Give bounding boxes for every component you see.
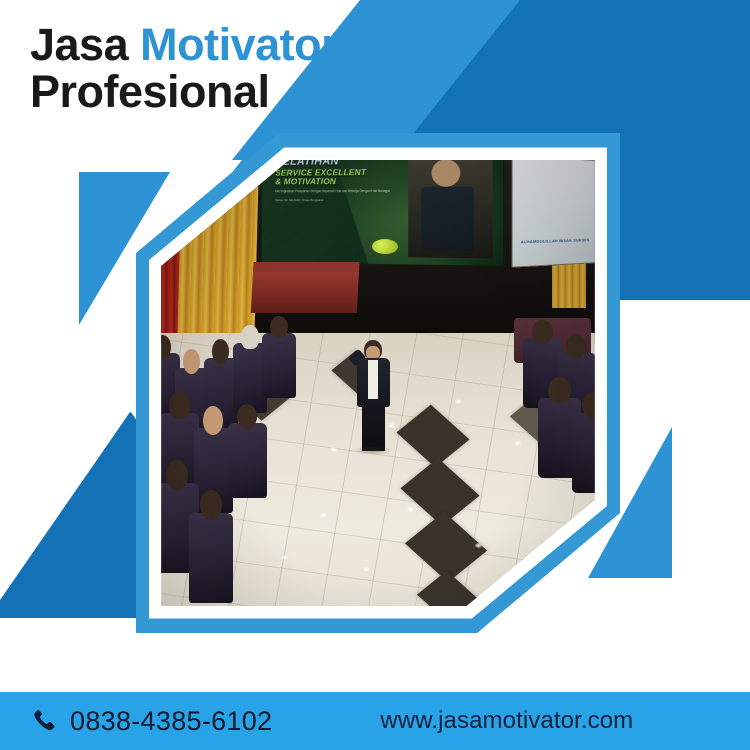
audience-member <box>189 513 233 603</box>
audience-head <box>241 325 259 349</box>
speaker-shadow <box>354 446 393 455</box>
audience-head <box>200 490 223 521</box>
banner-meta: Sabtu, 20 Juli 2019 | Dinas Pengairan <box>275 198 423 202</box>
headline-line-1: Jasa Motivator <box>30 22 338 69</box>
audience-head <box>237 404 257 430</box>
audience-member <box>262 333 296 398</box>
speaker-shirt <box>368 360 378 399</box>
banner-tagline: Meningkatkan Pelayanan Dengan Sepenuh Ha… <box>275 189 423 194</box>
audience-head <box>566 334 586 360</box>
speaker-legs <box>362 405 385 451</box>
floor-light-reflection <box>330 447 337 452</box>
motivational-speaker <box>349 338 397 453</box>
headline-block: Jasa Motivator Profesional <box>30 22 338 116</box>
footer-website[interactable]: www.jasamotivator.com <box>380 707 633 735</box>
floor-light-reflection <box>475 543 482 548</box>
projection-screen-text: ALHAMDULILLAH BISAK SUKSES <box>520 237 589 244</box>
audience-head <box>183 349 201 375</box>
hexagon-photo-frame: PELATIHAN SERVICE EXCELLENT & MOTIVATION… <box>136 133 620 633</box>
headline-word-motivator: Motivator <box>140 19 338 70</box>
floor-light-reflection <box>407 507 414 512</box>
footer-phone-number[interactable]: 0838-4385-6102 <box>70 706 272 737</box>
footer-contact-bar: 0838-4385-6102 www.jasamotivator.com <box>0 692 750 750</box>
audience-head <box>532 320 552 344</box>
audience-head <box>212 339 230 365</box>
floor-light-reflection <box>320 513 327 518</box>
audience-head <box>548 377 571 404</box>
event-banner: PELATIHAN SERVICE EXCELLENT & MOTIVATION… <box>261 141 505 267</box>
headline-line-2: Profesional <box>30 69 338 116</box>
audience-member <box>228 423 267 498</box>
audience-head <box>270 316 288 338</box>
banner-text-block: PELATIHAN SERVICE EXCELLENT & MOTIVATION… <box>275 156 423 202</box>
audience-head <box>166 460 189 491</box>
audience-head <box>169 392 189 419</box>
audience-head <box>203 406 223 435</box>
hexagon-layers: PELATIHAN SERVICE EXCELLENT & MOTIVATION… <box>136 133 620 633</box>
banner-subtitle-2: & MOTIVATION <box>275 177 423 187</box>
headline-word-jasa: Jasa <box>30 19 140 70</box>
projection-screen: ALHAMDULILLAH BISAK SUKSES <box>511 155 606 267</box>
stage-table <box>251 268 360 313</box>
footer-phone-group[interactable]: 0838-4385-6102 <box>32 706 272 737</box>
stage-table-top <box>253 262 360 272</box>
phone-handset-icon <box>32 708 58 734</box>
poster-canvas: Jasa Motivator Profesional <box>0 0 750 750</box>
floor-light-reflection <box>514 441 521 446</box>
